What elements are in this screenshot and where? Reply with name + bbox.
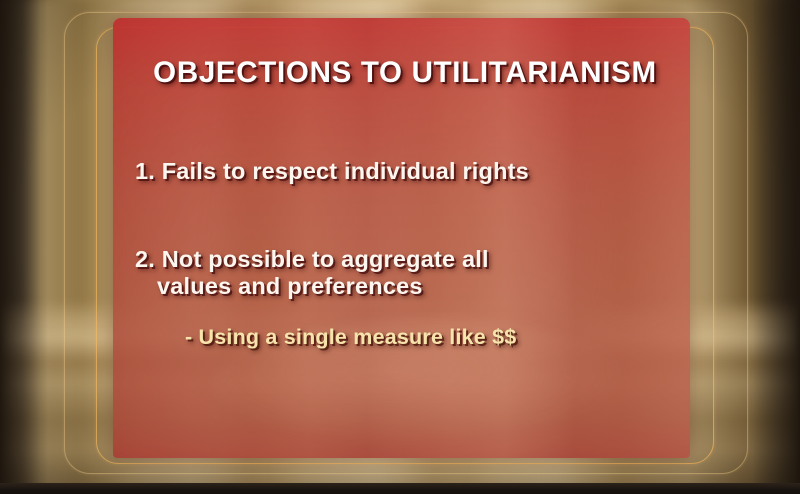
bullet-item-1: 1. Fails to respect individual rights bbox=[135, 158, 680, 184]
slide-content: OBJECTIONS TO UTILITARIANISM 1. Fails to… bbox=[113, 18, 690, 458]
sub-bullet-item: - Using a single measure like $$ bbox=[185, 325, 680, 350]
bullet-item-2: 2. Not possible to aggregate all values … bbox=[135, 246, 680, 299]
bullet-list: 1. Fails to respect individual rights 2.… bbox=[135, 158, 680, 350]
bullet-item-2-line-2: values and preferences bbox=[157, 273, 680, 299]
lecture-slide: OBJECTIONS TO UTILITARIANISM 1. Fails to… bbox=[0, 0, 800, 494]
bullet-item-1-line-1: 1. Fails to respect individual rights bbox=[135, 158, 529, 184]
bullet-item-2-line-1: 2. Not possible to aggregate all bbox=[135, 246, 489, 272]
bottom-letterbox-bar bbox=[0, 483, 800, 494]
slide-title: OBJECTIONS TO UTILITARIANISM bbox=[140, 56, 670, 90]
